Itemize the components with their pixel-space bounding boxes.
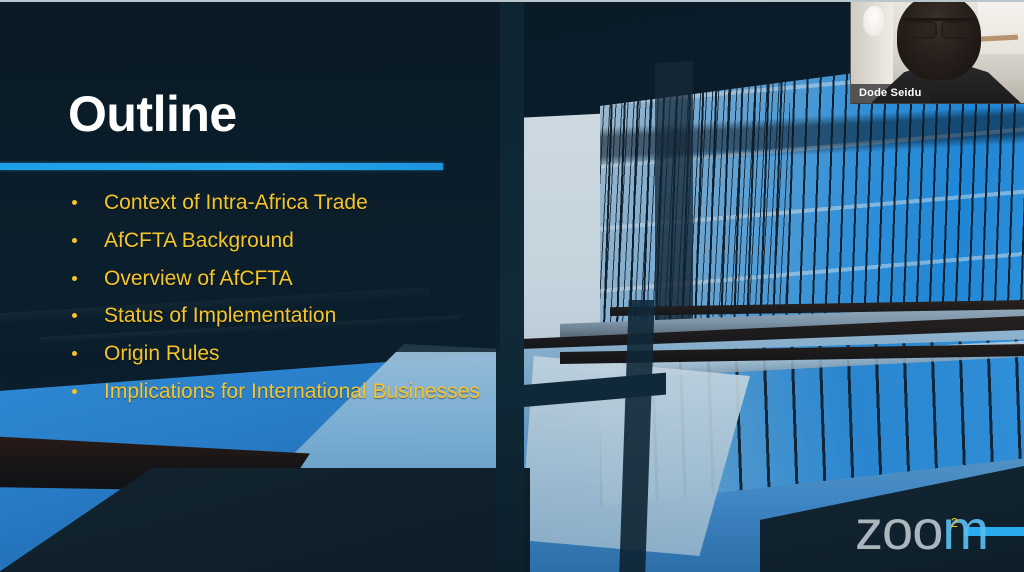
list-item: Origin Rules	[66, 342, 626, 367]
capture-top-border	[0, 0, 1024, 2]
list-item-label: Status of Implementation	[104, 304, 336, 327]
outline-bullet-list: Context of Intra-Africa Trade AfCFTA Bac…	[66, 191, 626, 418]
video-person-head	[897, 0, 981, 80]
participant-name-label: Dode Seidu	[851, 84, 930, 103]
bullet-dot-icon	[72, 389, 77, 394]
list-item: Implications for International Businesse…	[66, 380, 626, 405]
video-window	[978, 0, 1024, 54]
list-item-label: AfCFTA Background	[104, 229, 294, 252]
list-item-label: Context of Intra-Africa Trade	[104, 191, 368, 214]
zoom-logo-watermark: zoom	[855, 502, 988, 558]
list-item: AfCFTA Background	[66, 229, 626, 254]
list-item: Overview of AfCFTA	[66, 267, 626, 292]
list-item-label: Implications for International Businesse…	[104, 380, 480, 403]
zoom-logo-text: zoo	[855, 498, 942, 561]
zoom-screen-share-window: Outline Context of Intra-Africa Trade Af…	[0, 0, 1024, 572]
list-item: Status of Implementation	[66, 304, 626, 329]
page-title: Outline	[68, 89, 237, 139]
bullet-dot-icon	[72, 351, 77, 356]
bullet-dot-icon	[72, 200, 77, 205]
bullet-dot-icon	[72, 238, 77, 243]
slide-number: 2	[951, 515, 958, 530]
title-underline-rule	[0, 163, 443, 170]
bullet-dot-icon	[72, 313, 77, 318]
list-item-label: Origin Rules	[104, 342, 220, 365]
list-item: Context of Intra-Africa Trade	[66, 191, 626, 216]
zoom-logo-text-m: m	[942, 498, 988, 561]
video-lamp	[863, 6, 885, 36]
list-item-label: Overview of AfCFTA	[104, 267, 293, 290]
glasses-icon	[903, 18, 975, 36]
participant-video-tile[interactable]: Dode Seidu	[850, 0, 1024, 104]
bullet-dot-icon	[72, 276, 77, 281]
photo-facade-pier	[655, 61, 693, 323]
